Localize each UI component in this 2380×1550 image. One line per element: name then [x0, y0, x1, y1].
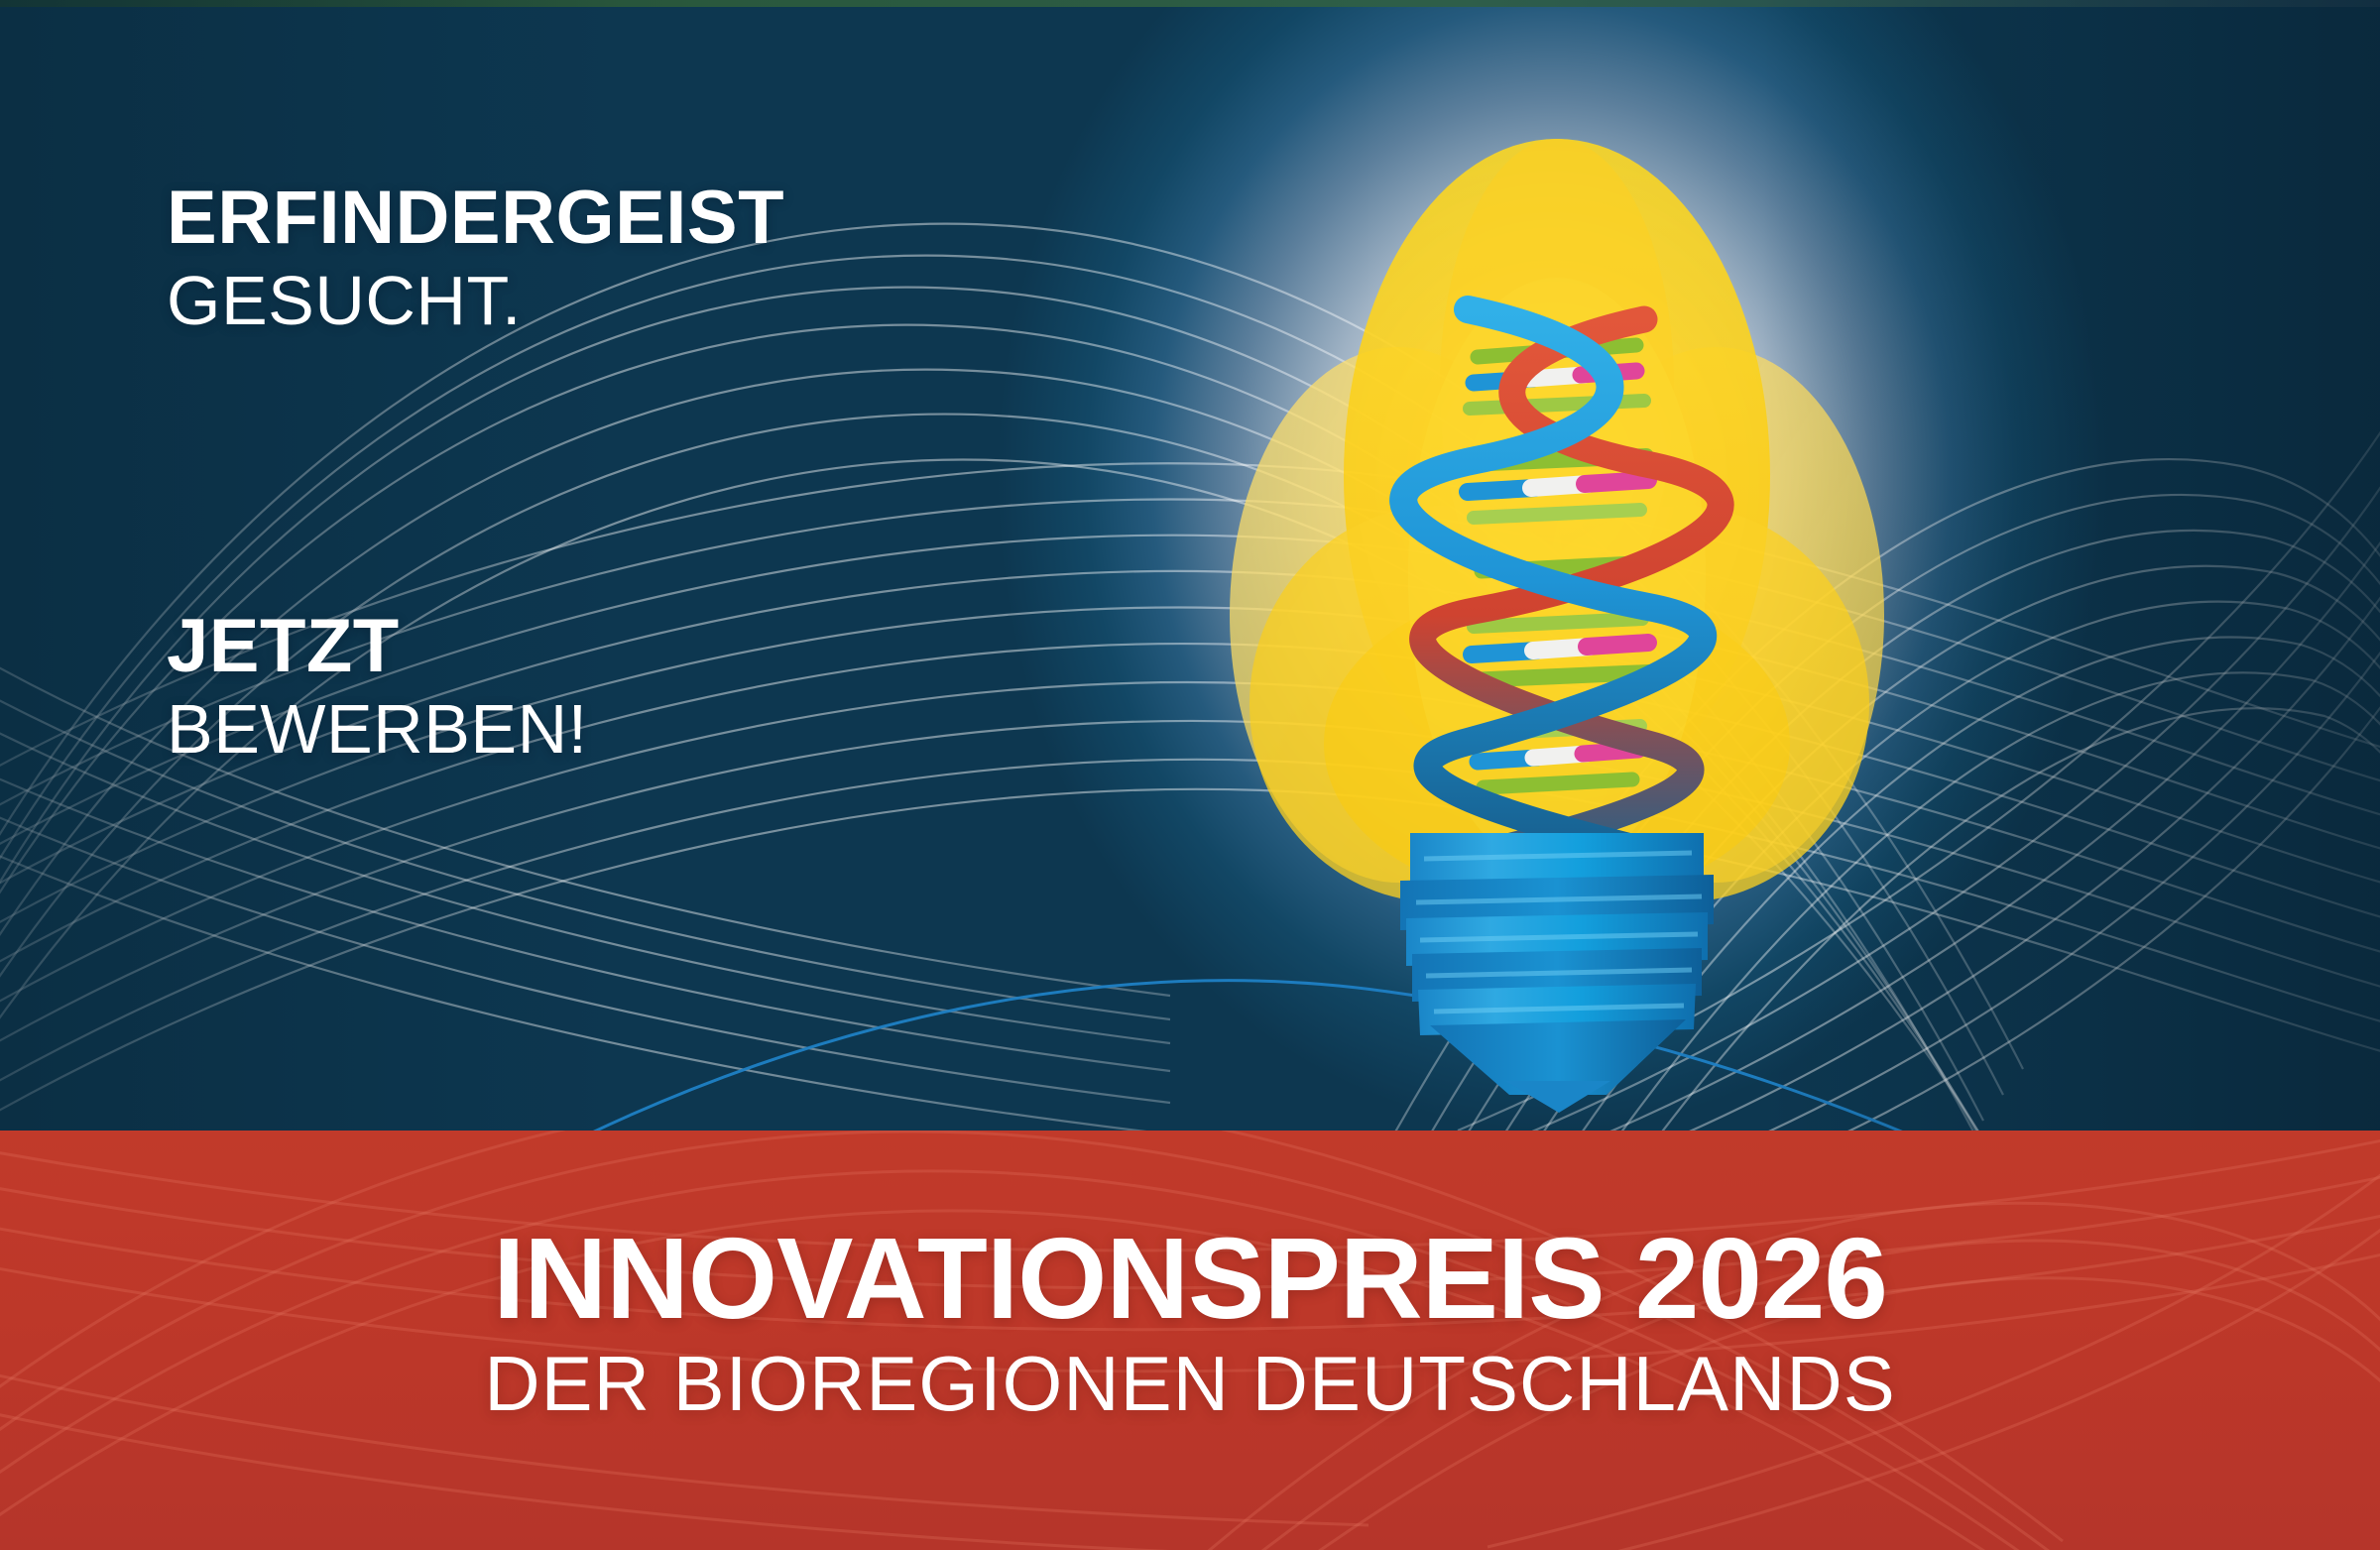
- innovation-award-banner: ERFINDERGEIST GESUCHT. JETZT BEWERBEN!: [0, 0, 2380, 1550]
- claim-line-2: JETZT BEWERBEN!: [167, 609, 588, 764]
- claim-1-strong: ERFINDERGEIST: [167, 180, 784, 256]
- lightbulb-graphic: [1140, 60, 1973, 1121]
- award-title: INNOVATIONSPREIS 2026: [0, 1220, 2380, 1338]
- claim-2-light: BEWERBEN!: [167, 694, 588, 764]
- claim-2-strong: JETZT: [167, 609, 588, 684]
- claim-line-1: ERFINDERGEIST GESUCHT.: [167, 180, 784, 335]
- bulb-screw-base: [1400, 833, 1714, 1113]
- award-title-block: INNOVATIONSPREIS 2026 DER BIOREGIONEN DE…: [0, 1220, 2380, 1425]
- claim-1-light: GESUCHT.: [167, 266, 784, 335]
- award-subtitle: DER BIOREGIONEN DEUTSCHLANDS: [0, 1344, 2380, 1425]
